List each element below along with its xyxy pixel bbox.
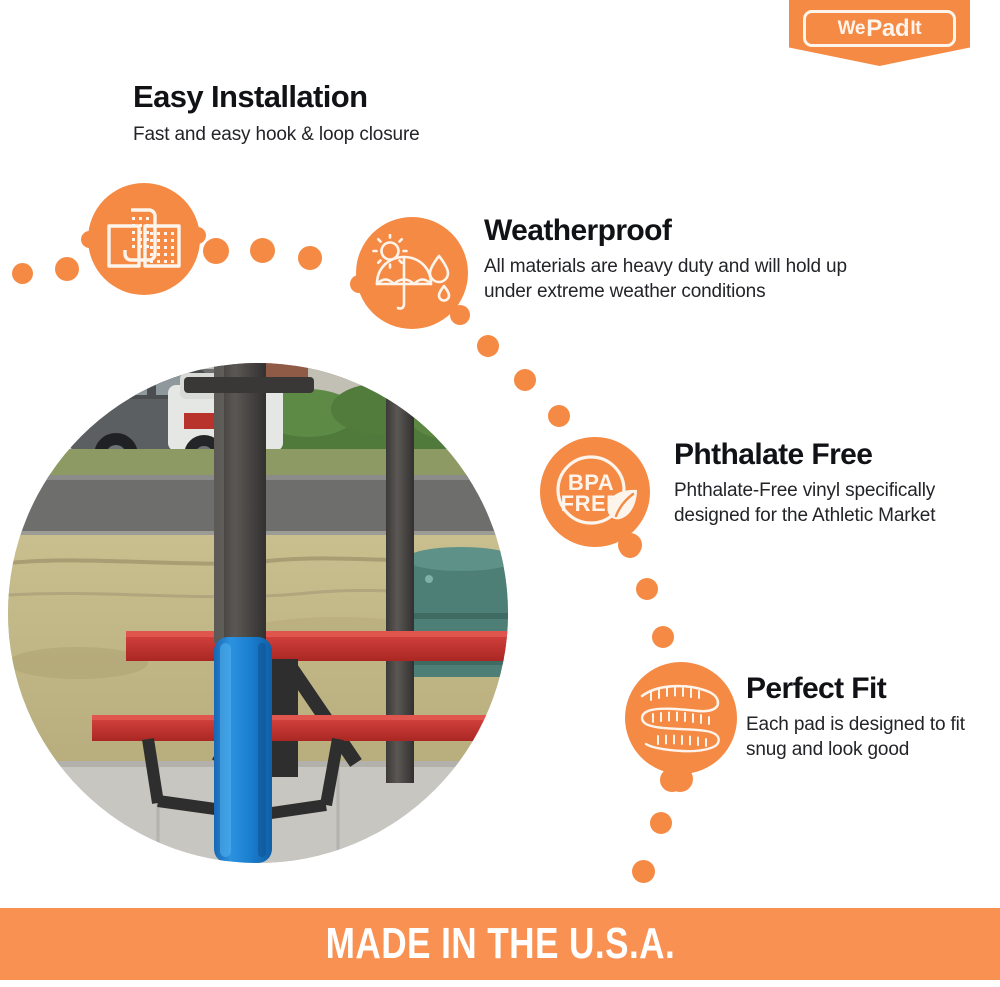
logo-text-box: WePadIt — [803, 10, 956, 47]
trail-dot — [203, 238, 229, 264]
feature-description: Each pad is designed to fit snug and loo… — [746, 712, 971, 763]
icon-knob — [450, 305, 470, 325]
trail-dot — [514, 369, 536, 391]
trail-dot — [636, 578, 658, 600]
trail-dot — [55, 257, 79, 281]
product-photo-circle — [8, 363, 508, 863]
photo-illustration — [8, 363, 508, 863]
feature-description: Phthalate-Free vinyl specifically design… — [674, 478, 944, 529]
feature-title: Perfect Fit — [746, 672, 986, 705]
feature-weatherproof: Weatherproof All materials are heavy dut… — [484, 214, 904, 305]
trail-dot — [12, 263, 33, 284]
feature-title: Easy Installation — [133, 80, 420, 114]
infographic-page: WePadIt — [0, 0, 1000, 987]
feature-description: Fast and easy hook & loop closure — [133, 122, 420, 147]
sun-umbrella-rain-icon — [356, 217, 468, 329]
made-in-usa-banner: MADE IN THE U.S.A. — [0, 908, 1000, 980]
trail-dot — [548, 405, 570, 427]
trail-dot — [477, 335, 499, 357]
measuring-tape-icon — [625, 662, 737, 774]
logo-text-pad: Pad — [866, 17, 909, 41]
feature-phthalate-free: Phthalate Free Phthalate-Free vinyl spec… — [674, 438, 974, 529]
trail-dot — [298, 246, 322, 270]
logo-text-it: It — [910, 19, 921, 38]
brand-logo: WePadIt — [789, 0, 970, 66]
hook-and-loop-icon — [88, 183, 200, 295]
icon-knob — [667, 766, 693, 792]
logo-text-we: We — [838, 19, 866, 38]
icon-knob — [618, 533, 642, 557]
bpa-free-leaf-icon: BPA FREE — [540, 437, 650, 547]
feature-description: All materials are heavy duty and will ho… — [484, 254, 884, 305]
trail-dot — [650, 812, 672, 834]
icon-knob — [350, 275, 368, 293]
icon-knob — [81, 231, 98, 248]
feature-title: Phthalate Free — [674, 438, 974, 471]
trail-dot — [250, 238, 275, 263]
icon-knob — [189, 227, 206, 244]
feature-easy-installation: Easy Installation Fast and easy hook & l… — [133, 80, 420, 148]
banner-text: MADE IN THE U.S.A. — [325, 919, 674, 969]
trail-dot — [632, 860, 655, 883]
trail-dot — [652, 626, 674, 648]
feature-title: Weatherproof — [484, 214, 904, 247]
feature-perfect-fit: Perfect Fit Each pad is designed to fit … — [746, 672, 986, 763]
